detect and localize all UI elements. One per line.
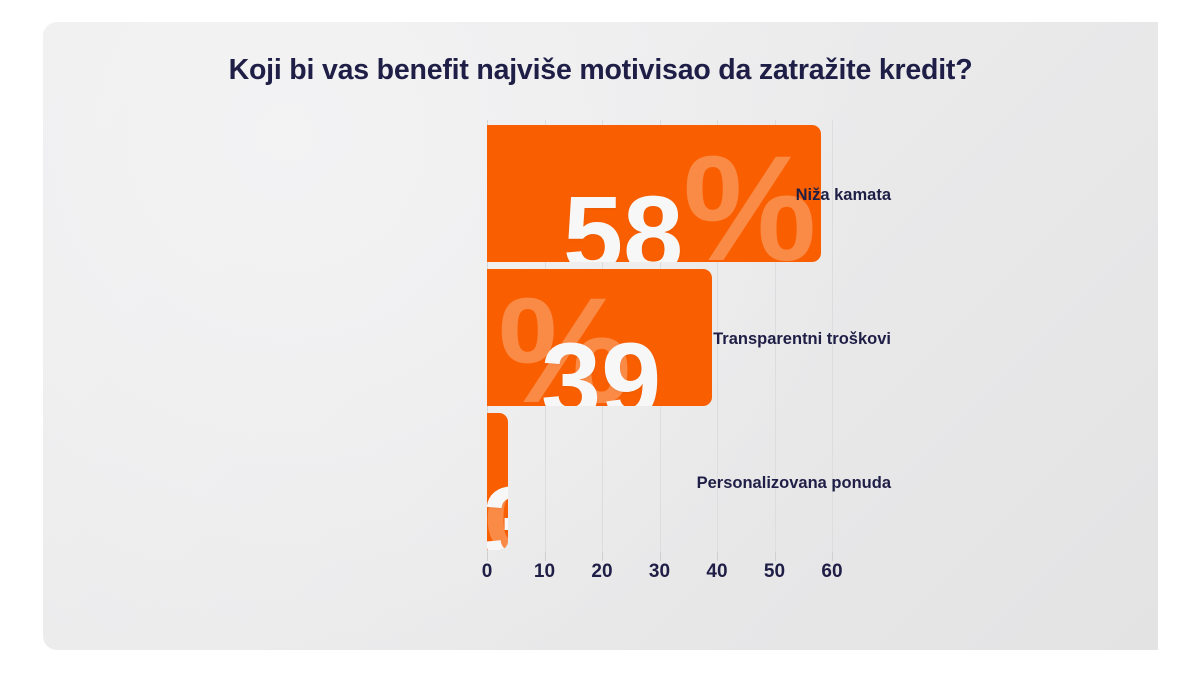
category-label-personalizovana-ponuda: Personalizovana ponuda [491,474,891,493]
chart-title: Koji bi vas benefit najviše motivisao da… [43,54,1158,87]
category-axis: Niža kamata Transparentni troškovi Perso… [43,120,473,552]
x-tick-mark [545,552,546,561]
x-tick-label: 50 [764,561,785,583]
category-label-niza-kamata: Niža kamata [491,186,891,205]
x-tick-label: 30 [649,561,670,583]
x-tick-label: 10 [534,561,555,583]
x-tick-mark [717,552,718,561]
x-axis: 0 10 20 30 40 50 60 [487,552,907,586]
x-tick-label: 0 [482,561,493,583]
x-tick-mark [775,552,776,561]
x-tick-label: 20 [591,561,612,583]
slide-frame: Koji bi vas benefit najviše motivisao da… [43,22,1158,650]
x-tick-mark [487,552,488,561]
x-tick-label: 40 [706,561,727,583]
x-tick-mark [602,552,603,561]
x-tick-label: 60 [821,561,842,583]
category-label-transparentni-troskovi: Transparentni troškovi [491,330,891,349]
x-tick-mark [660,552,661,561]
x-tick-mark [832,552,833,561]
